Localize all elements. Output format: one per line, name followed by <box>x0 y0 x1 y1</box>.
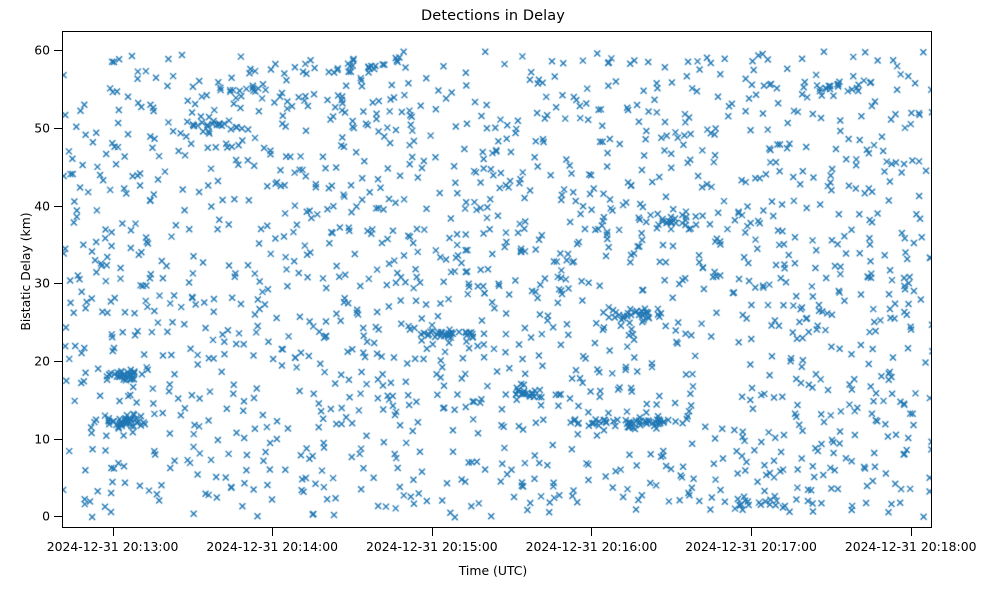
y-tick-label: 30 <box>34 276 50 291</box>
y-tick-mark <box>54 50 62 51</box>
plot-area <box>62 31 932 528</box>
x-tick-mark <box>591 528 592 536</box>
scatter-points-canvas <box>63 32 932 528</box>
y-tick-label: 60 <box>34 43 50 58</box>
x-tick-mark <box>272 528 273 536</box>
y-tick-mark <box>54 206 62 207</box>
x-tick-mark <box>113 528 114 536</box>
chart-figure: Detections in Delay Bistatic Delay (km) … <box>0 0 986 590</box>
y-tick-label: 40 <box>34 198 50 213</box>
chart-title: Detections in Delay <box>0 8 986 24</box>
x-tick-label: 2024-12-31 20:14:00 <box>206 539 338 554</box>
y-tick-mark <box>54 283 62 284</box>
x-tick-label: 2024-12-31 20:18:00 <box>845 539 977 554</box>
y-tick-mark <box>54 128 62 129</box>
x-axis-label: Time (UTC) <box>0 563 986 578</box>
y-tick-label: 10 <box>34 431 50 446</box>
x-tick-label: 2024-12-31 20:13:00 <box>47 539 179 554</box>
x-tick-label: 2024-12-31 20:15:00 <box>366 539 498 554</box>
x-tick-mark <box>911 528 912 536</box>
y-tick-label: 50 <box>34 121 50 136</box>
x-tick-label: 2024-12-31 20:16:00 <box>526 539 658 554</box>
x-tick-label: 2024-12-31 20:17:00 <box>685 539 817 554</box>
y-tick-mark <box>54 361 62 362</box>
y-tick-mark <box>54 439 62 440</box>
y-tick-mark <box>54 516 62 517</box>
y-tick-label: 0 <box>42 509 50 524</box>
x-tick-mark <box>432 528 433 536</box>
y-tick-label: 20 <box>34 354 50 369</box>
y-axis-label: Bistatic Delay (km) <box>18 23 33 520</box>
x-tick-mark <box>751 528 752 536</box>
